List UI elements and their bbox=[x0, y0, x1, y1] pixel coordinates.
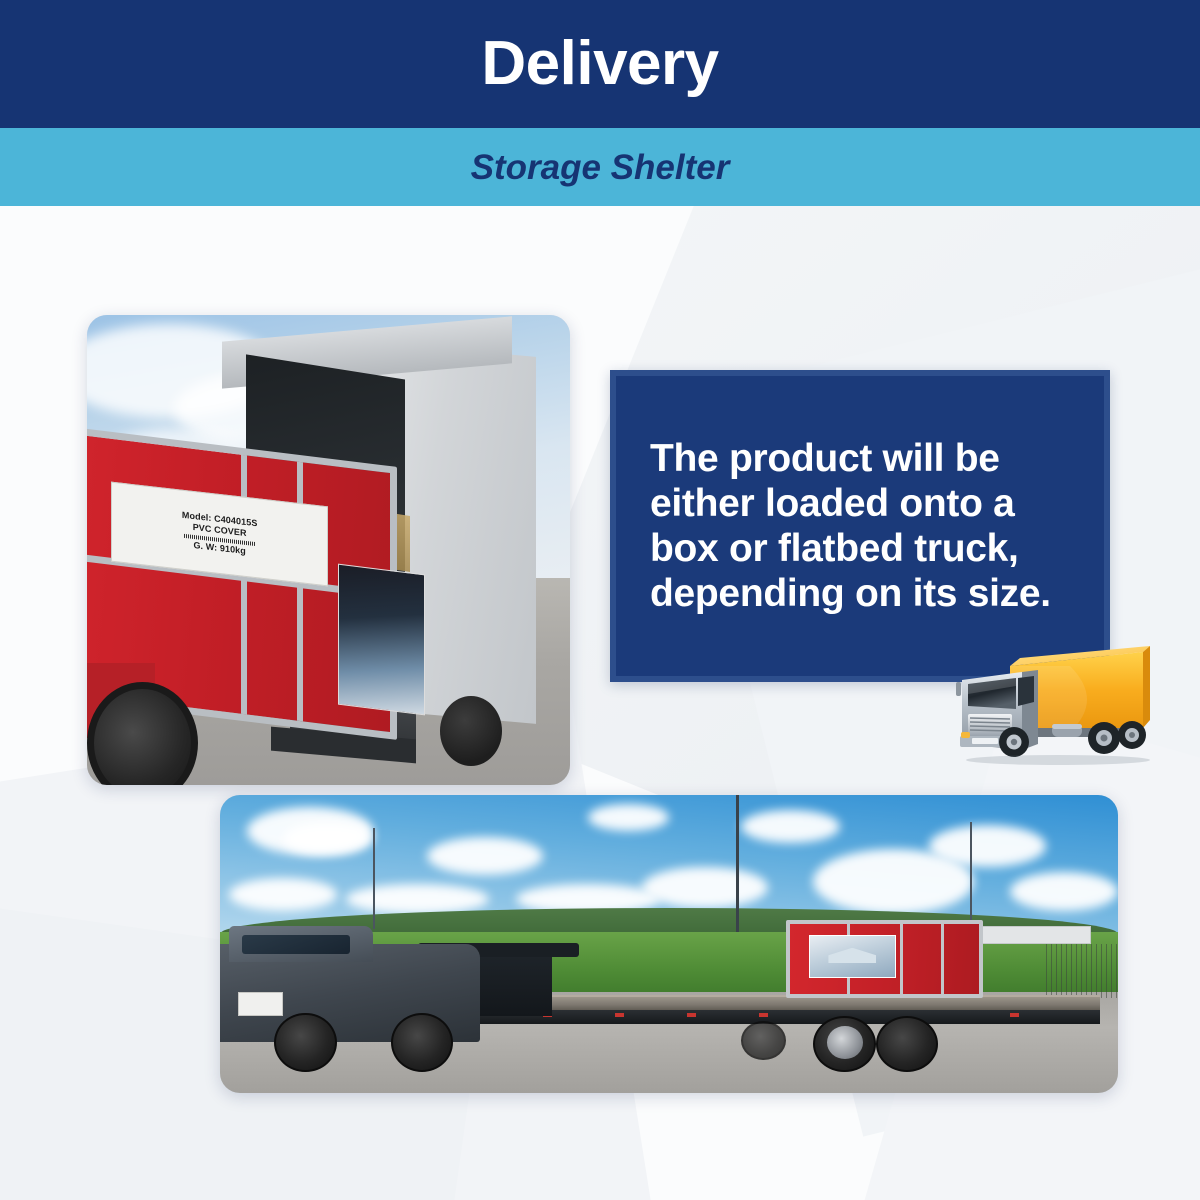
light-pole bbox=[970, 822, 972, 929]
utility-pole bbox=[736, 795, 739, 932]
photo-flatbed bbox=[220, 795, 1118, 1093]
photo-truck-box: Model: C404015S PVC COVER G. W: 910kg bbox=[87, 315, 570, 785]
background-semi-truck bbox=[965, 926, 1091, 944]
delivery-slide: Delivery Storage Shelter bbox=[0, 0, 1200, 1200]
crate-divider bbox=[296, 461, 302, 720]
title-band: Delivery bbox=[0, 0, 1200, 128]
crate-divider bbox=[900, 924, 903, 993]
truck-front-wheel bbox=[999, 727, 1029, 757]
crate-divider bbox=[941, 924, 944, 993]
red-shelter-crate bbox=[786, 920, 984, 997]
cloud bbox=[1010, 872, 1118, 911]
cloud bbox=[741, 810, 840, 843]
pickup-window bbox=[242, 935, 350, 954]
cloud bbox=[346, 884, 490, 914]
flatbed-frame bbox=[480, 1010, 1100, 1025]
crate-product-poster bbox=[338, 563, 425, 715]
cloud bbox=[283, 822, 373, 855]
page-subtitle: Storage Shelter bbox=[471, 150, 730, 185]
pickup-wheel bbox=[391, 1013, 454, 1073]
side-mirror bbox=[956, 682, 961, 696]
light-pole bbox=[373, 828, 375, 929]
subtitle-band: Storage Shelter bbox=[0, 128, 1200, 206]
truck-fuel-tank bbox=[1052, 724, 1082, 737]
page-title: Delivery bbox=[481, 33, 718, 95]
delivery-truck-illustration bbox=[952, 636, 1162, 768]
chain-link-fence bbox=[1046, 944, 1118, 998]
marker-light bbox=[1010, 1013, 1019, 1017]
marker-light bbox=[759, 1013, 768, 1017]
marker-light bbox=[615, 1013, 624, 1017]
trailer-wheel-rim bbox=[827, 1026, 863, 1059]
pickup-door-sticker bbox=[238, 992, 283, 1016]
cloud bbox=[929, 825, 1046, 867]
crate-product-poster bbox=[809, 935, 896, 978]
headlight-icon bbox=[961, 732, 970, 738]
truck-wheel bbox=[440, 696, 503, 767]
pickup-wheel bbox=[274, 1013, 337, 1073]
cloud bbox=[642, 867, 768, 909]
shelter-graphic-icon bbox=[828, 948, 876, 964]
crate-divider bbox=[241, 454, 247, 713]
trailer-wheel bbox=[741, 1021, 786, 1060]
truck-shadow bbox=[966, 755, 1150, 765]
trailer-wheel bbox=[876, 1016, 939, 1073]
cloud bbox=[588, 804, 669, 831]
cloud bbox=[229, 878, 337, 911]
callout-text: The product will be either loaded onto a… bbox=[650, 436, 1074, 617]
marker-light bbox=[687, 1013, 696, 1017]
